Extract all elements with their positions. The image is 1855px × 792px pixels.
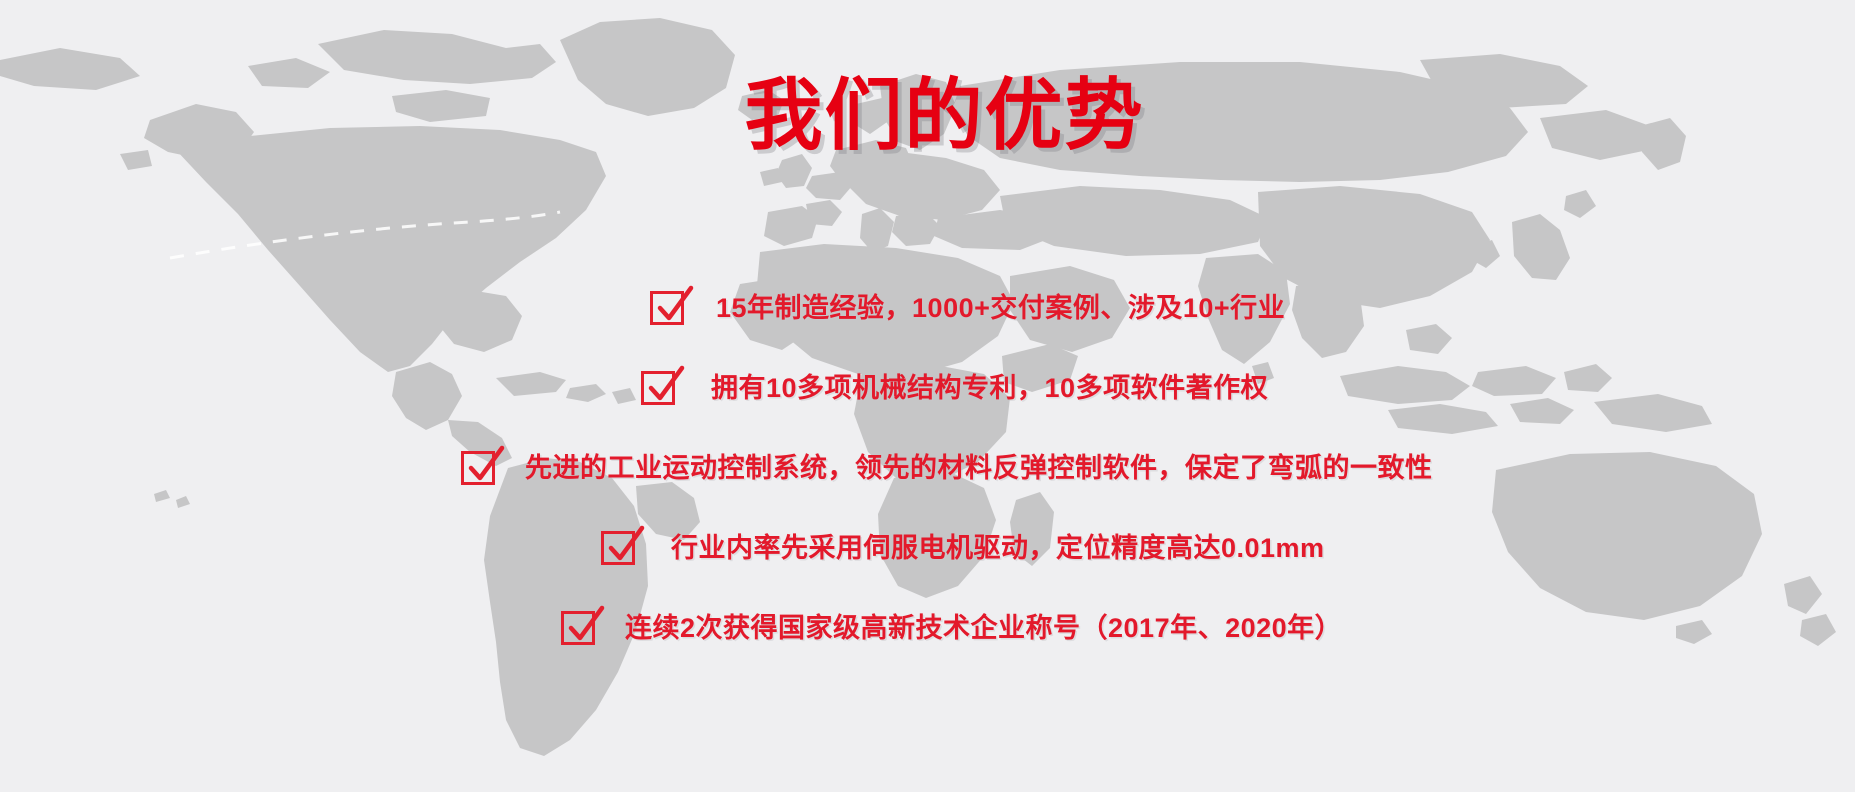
list-item-label: 拥有10多项机械结构专利，10多项软件著作权: [711, 372, 1268, 404]
list-item-label: 先进的工业运动控制系统，领先的材料反弹控制软件，保定了弯弧的一致性: [525, 452, 1433, 484]
list-item-label: 15年制造经验，1000+交付案例、涉及10+行业: [716, 292, 1285, 324]
banner-content: 我们的优势 15年制造经验，1000+交付案例、涉及10+行业 拥有10多项机械…: [0, 0, 1855, 792]
check-square-icon: [641, 371, 675, 405]
list-item: 先进的工业运动控制系统，领先的材料反弹控制软件，保定了弯弧的一致性: [0, 428, 1855, 508]
check-square-icon: [650, 291, 684, 325]
check-square-icon: [461, 451, 495, 485]
advantages-banner: 我们的优势 15年制造经验，1000+交付案例、涉及10+行业 拥有10多项机械…: [0, 0, 1855, 792]
advantages-list: 15年制造经验，1000+交付案例、涉及10+行业 拥有10多项机械结构专利，1…: [0, 268, 1855, 668]
list-item: 15年制造经验，1000+交付案例、涉及10+行业: [0, 268, 1855, 348]
list-item-label: 连续2次获得国家级高新技术企业称号（2017年、2020年）: [625, 612, 1342, 644]
page-title: 我们的优势: [17, 76, 1855, 154]
check-square-icon: [561, 611, 595, 645]
list-item-label: 行业内率先采用伺服电机驱动，定位精度高达0.01mm: [671, 532, 1325, 564]
list-item: 拥有10多项机械结构专利，10多项软件著作权: [0, 348, 1855, 428]
list-item: 连续2次获得国家级高新技术企业称号（2017年、2020年）: [0, 588, 1855, 668]
check-square-icon: [601, 531, 635, 565]
list-item: 行业内率先采用伺服电机驱动，定位精度高达0.01mm: [0, 508, 1855, 588]
